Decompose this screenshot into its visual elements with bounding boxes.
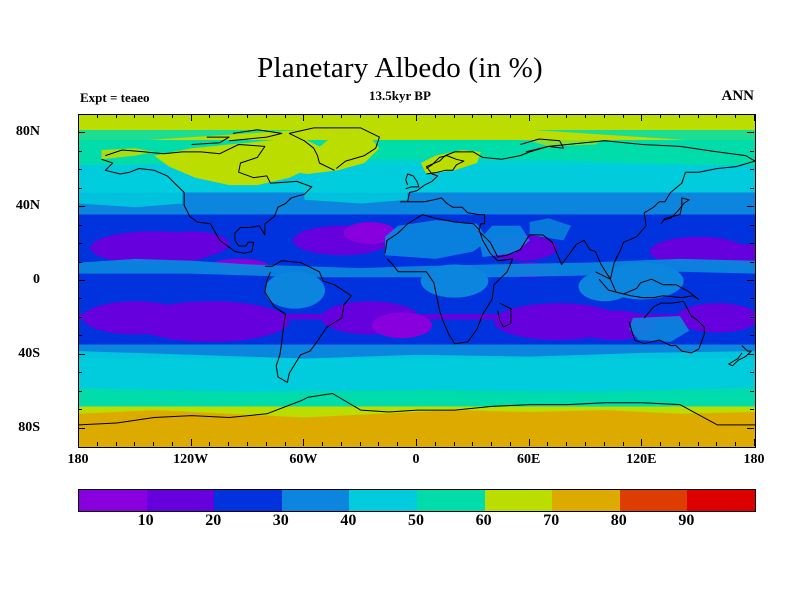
lat-tick xyxy=(78,132,85,133)
lat-tick xyxy=(78,372,82,373)
lon-label-60W: 60W xyxy=(289,452,317,468)
lon-tick xyxy=(623,114,624,118)
lat-tick xyxy=(750,188,754,189)
lat-tick xyxy=(78,243,82,244)
lat-tick xyxy=(747,206,754,207)
lon-tick xyxy=(547,442,548,446)
lon-label-180: 180 xyxy=(68,452,89,468)
colorbar-band-30-40 xyxy=(282,490,350,511)
lon-tick xyxy=(153,442,154,446)
lon-tick xyxy=(529,114,530,121)
colorbar xyxy=(78,489,756,512)
lon-tick xyxy=(566,114,567,118)
lon-tick xyxy=(472,442,473,446)
colorbar-band-10-20 xyxy=(147,490,215,511)
colorbar-band-50-60 xyxy=(417,490,485,511)
lon-tick xyxy=(641,439,642,446)
lon-tick xyxy=(491,442,492,446)
lon-tick xyxy=(303,439,304,446)
colorbar-tick-50: 50 xyxy=(408,512,424,530)
lat-tick xyxy=(78,317,82,318)
lon-tick xyxy=(641,114,642,121)
lat-tick xyxy=(78,391,82,392)
lon-tick xyxy=(247,114,248,118)
lon-tick xyxy=(209,442,210,446)
colorbar-tick-80: 80 xyxy=(611,512,627,530)
lon-tick xyxy=(397,442,398,446)
lon-tick xyxy=(416,439,417,446)
lon-tick xyxy=(716,442,717,446)
lat-tick xyxy=(750,372,754,373)
lat-tick xyxy=(750,243,754,244)
lat-tick xyxy=(747,354,754,355)
lon-tick xyxy=(97,114,98,118)
lon-tick xyxy=(679,442,680,446)
lat-tick xyxy=(750,409,754,410)
lon-tick xyxy=(623,442,624,446)
lon-tick xyxy=(660,442,661,446)
lat-tick xyxy=(747,132,754,133)
lat-tick xyxy=(78,225,82,226)
lon-tick xyxy=(172,442,173,446)
lon-tick xyxy=(341,442,342,446)
lat-tick xyxy=(750,335,754,336)
lon-tick xyxy=(228,114,229,118)
lat-tick xyxy=(78,280,85,281)
lon-tick xyxy=(228,442,229,446)
lon-tick xyxy=(322,442,323,446)
lat-tick xyxy=(78,188,82,189)
lat-tick xyxy=(78,428,85,429)
lat-tick xyxy=(750,262,754,263)
lon-tick xyxy=(266,114,267,118)
lon-label-0: 0 xyxy=(413,452,420,468)
colorbar-tick-10: 10 xyxy=(138,512,154,530)
lat-tick xyxy=(747,280,754,281)
lon-tick xyxy=(585,442,586,446)
lon-tick xyxy=(716,114,717,118)
colorbar-tick-40: 40 xyxy=(340,512,356,530)
lon-tick xyxy=(134,114,135,118)
lon-tick xyxy=(698,442,699,446)
lat-tick xyxy=(78,354,85,355)
lon-tick xyxy=(698,114,699,118)
lon-tick xyxy=(510,442,511,446)
lon-tick xyxy=(604,114,605,118)
lon-tick xyxy=(735,114,736,118)
lat-label-40N: 40N xyxy=(16,198,40,214)
colorbar-band->90 xyxy=(687,490,755,511)
lon-tick xyxy=(660,114,661,118)
albedo-map-figure: Planetary Albedo (in %) 13.5kyr BP Expt … xyxy=(0,0,800,600)
lon-tick xyxy=(397,114,398,118)
lon-tick xyxy=(679,114,680,118)
experiment-label: Expt = teaeo xyxy=(80,90,150,106)
lon-label-180: 180 xyxy=(744,452,765,468)
lon-tick xyxy=(510,114,511,118)
lat-tick xyxy=(750,151,754,152)
lon-tick xyxy=(604,442,605,446)
lon-tick xyxy=(97,442,98,446)
lon-tick xyxy=(754,439,755,446)
lat-tick xyxy=(750,317,754,318)
lat-tick xyxy=(78,335,82,336)
colorbar-band-80-90 xyxy=(620,490,688,511)
lon-label-60E: 60E xyxy=(517,452,540,468)
page-title: Planetary Albedo (in %) xyxy=(0,52,800,85)
lon-tick xyxy=(285,114,286,118)
lat-tick xyxy=(78,262,82,263)
lat-tick xyxy=(750,225,754,226)
colorbar-band-<10 xyxy=(79,490,147,511)
lat-label-80S: 80S xyxy=(18,420,40,436)
colorbar-band-40-50 xyxy=(349,490,417,511)
lon-tick xyxy=(454,114,455,118)
colorbar-band-60-70 xyxy=(485,490,553,511)
lon-tick xyxy=(378,442,379,446)
lon-tick xyxy=(285,442,286,446)
lon-tick xyxy=(435,114,436,118)
lon-tick xyxy=(191,114,192,121)
colorbar-band-20-30 xyxy=(214,490,282,511)
lat-tick xyxy=(78,169,82,170)
lat-tick xyxy=(750,391,754,392)
lon-tick xyxy=(378,114,379,118)
lon-tick xyxy=(116,114,117,118)
lat-label-80N: 80N xyxy=(16,124,40,140)
lat-tick xyxy=(750,169,754,170)
lon-label-120W: 120W xyxy=(173,452,208,468)
map-plot-area xyxy=(78,114,756,448)
lat-tick xyxy=(78,151,82,152)
lon-tick xyxy=(322,114,323,118)
lon-tick xyxy=(209,114,210,118)
lon-tick xyxy=(341,114,342,118)
lat-tick xyxy=(78,206,85,207)
lon-tick xyxy=(172,114,173,118)
lat-label-40S: 40S xyxy=(18,346,40,362)
lon-tick xyxy=(78,114,79,121)
map-clip xyxy=(79,115,755,447)
lon-tick xyxy=(153,114,154,118)
lon-tick xyxy=(360,114,361,118)
lon-tick xyxy=(547,114,548,118)
lon-tick xyxy=(472,114,473,118)
lon-tick xyxy=(266,442,267,446)
colorbar-band-70-80 xyxy=(552,490,620,511)
lon-tick xyxy=(191,439,192,446)
lat-tick xyxy=(78,298,82,299)
colorbar-tick-90: 90 xyxy=(678,512,694,530)
colorbar-tick-60: 60 xyxy=(476,512,492,530)
lon-tick xyxy=(116,442,117,446)
lon-tick xyxy=(360,442,361,446)
lon-tick xyxy=(585,114,586,118)
lon-tick xyxy=(491,114,492,118)
lon-tick xyxy=(78,439,79,446)
lon-tick xyxy=(529,439,530,446)
colorbar-tick-20: 20 xyxy=(205,512,221,530)
lon-tick xyxy=(754,114,755,121)
lat-tick xyxy=(750,298,754,299)
lon-label-120E: 120E xyxy=(626,452,656,468)
lon-tick xyxy=(566,442,567,446)
lat-label-0: 0 xyxy=(33,272,40,288)
albedo-field xyxy=(79,115,755,447)
lon-tick xyxy=(134,442,135,446)
lon-tick xyxy=(735,442,736,446)
lat-tick xyxy=(78,409,82,410)
lon-tick xyxy=(435,442,436,446)
lon-tick xyxy=(303,114,304,121)
season-label: ANN xyxy=(722,88,755,105)
lon-tick xyxy=(416,114,417,121)
colorbar-tick-70: 70 xyxy=(543,512,559,530)
lat-tick xyxy=(747,428,754,429)
colorbar-tick-30: 30 xyxy=(273,512,289,530)
lon-tick xyxy=(247,442,248,446)
lon-tick xyxy=(454,442,455,446)
